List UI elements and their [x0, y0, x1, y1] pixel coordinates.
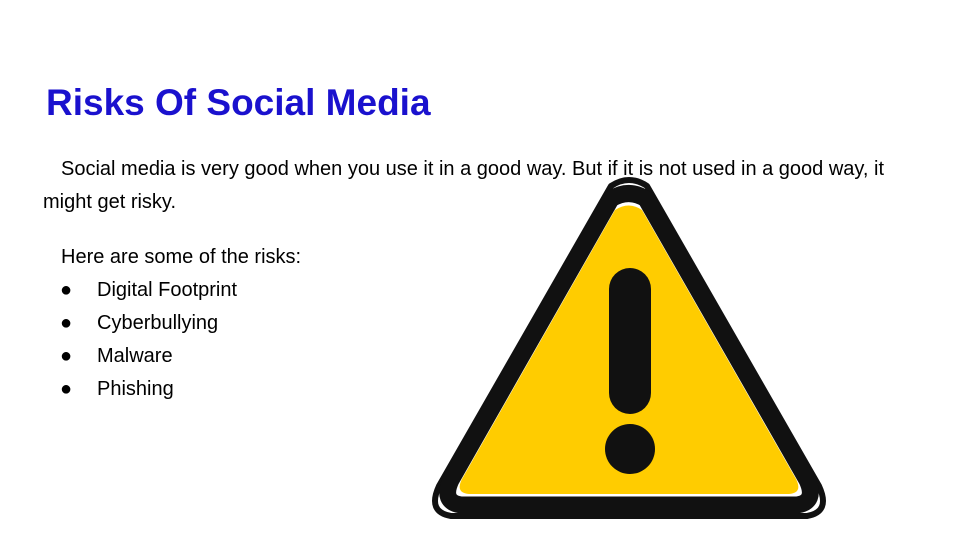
list-item-label: Cyberbullying: [97, 312, 218, 334]
bullet-icon: ●: [60, 373, 72, 406]
list-item: ● Phishing: [55, 373, 435, 406]
warning-triangle-icon: [425, 172, 833, 528]
list-item-label: Digital Footprint: [97, 279, 237, 301]
list-item: ● Cyberbullying: [55, 307, 435, 340]
bullet-icon: ●: [60, 340, 72, 373]
exclamation-dot: [605, 424, 655, 474]
bullet-icon: ●: [60, 274, 72, 307]
exclamation-bar: [609, 268, 651, 414]
list-item: ● Malware: [55, 340, 435, 373]
list-item-label: Malware: [97, 345, 173, 367]
risk-list: ● Digital Footprint ● Cyberbullying ● Ma…: [55, 274, 435, 406]
page-title: Risks Of Social Media: [46, 81, 431, 125]
list-item-label: Phishing: [97, 378, 174, 400]
list-item: ● Digital Footprint: [55, 274, 435, 307]
bullet-icon: ●: [60, 307, 72, 340]
slide-canvas: Risks Of Social Media Social media is ve…: [0, 0, 960, 540]
